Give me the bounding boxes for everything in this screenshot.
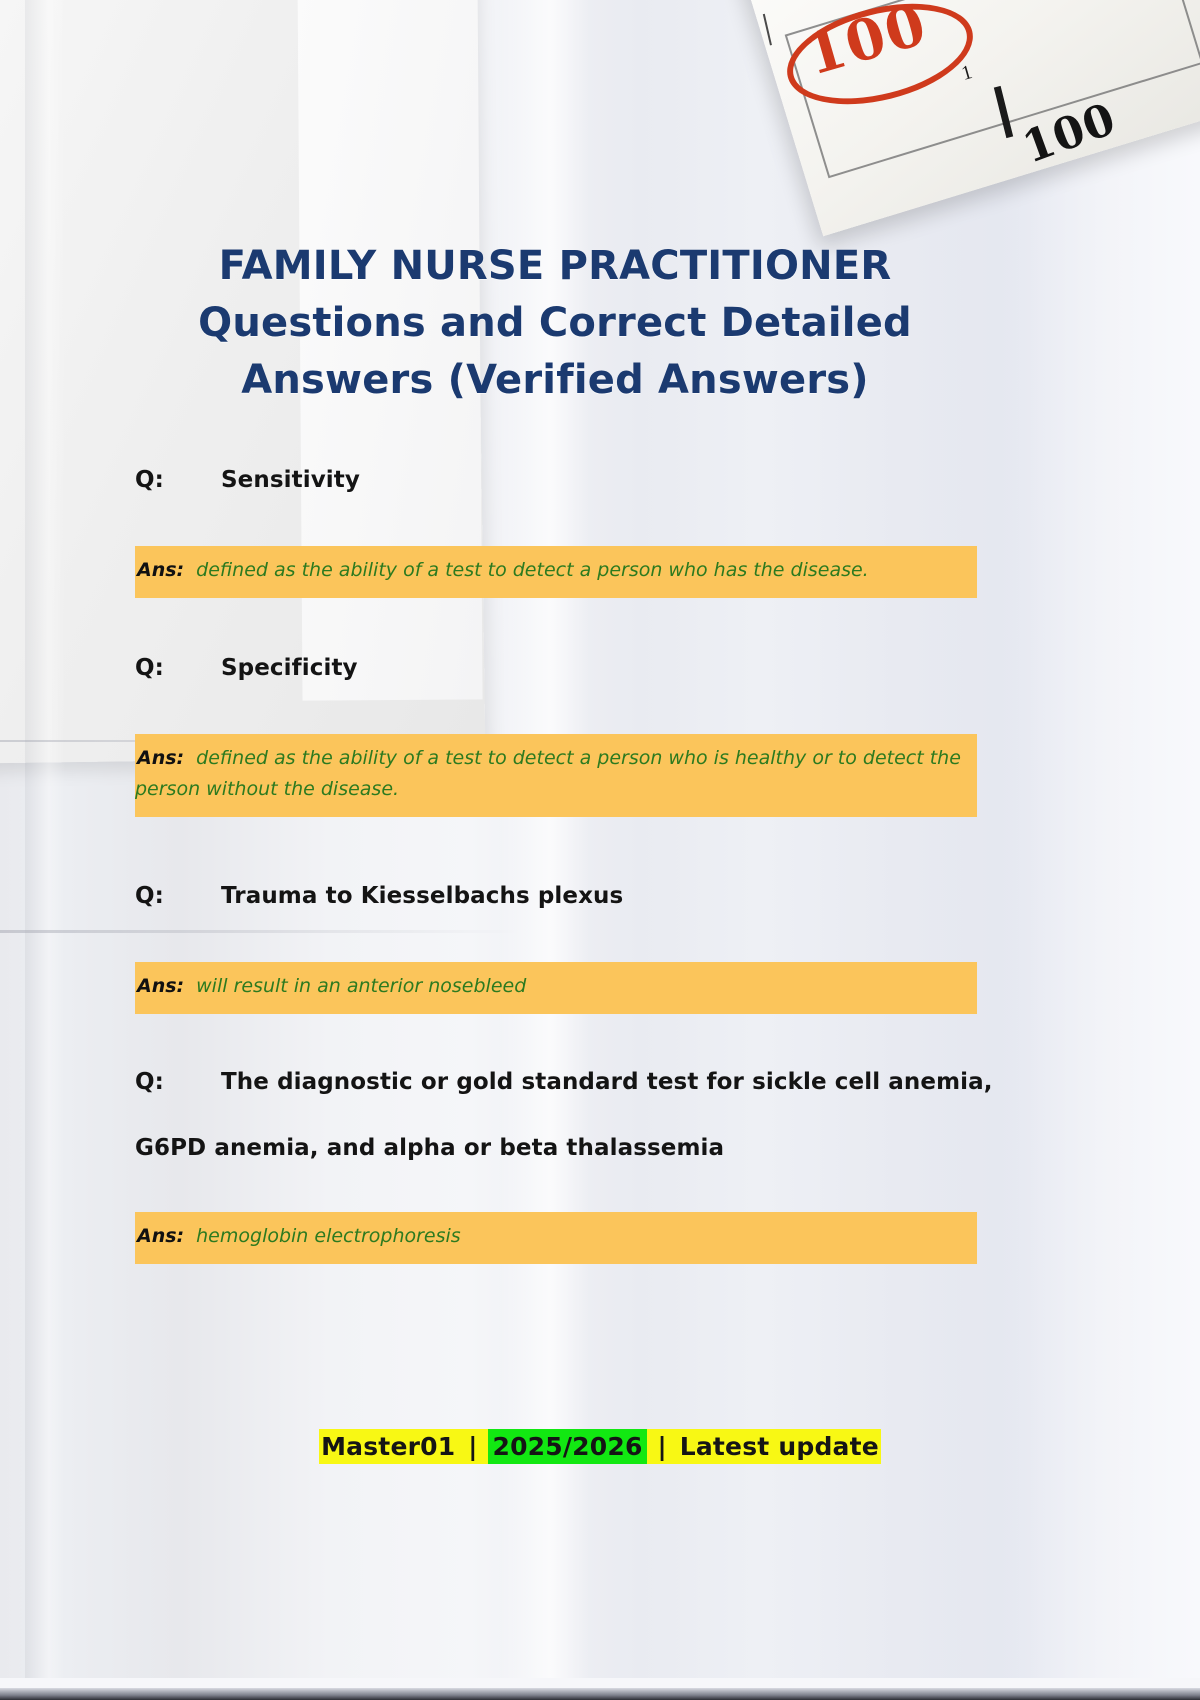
question-text-cont: G6PD anemia, and alpha or beta thalassem… bbox=[135, 1134, 1015, 1164]
answer-band: Ans:will result in an anterior nosebleed bbox=[135, 962, 977, 1014]
answer-band: Ans:hemoglobin electrophoresis bbox=[135, 1212, 977, 1264]
question-label: Q: bbox=[135, 654, 221, 684]
question-label: Q: bbox=[135, 882, 221, 912]
footer-update-label: Latest update bbox=[678, 1429, 881, 1464]
question-label: Q: bbox=[135, 1068, 221, 1098]
question-text: Specificity bbox=[221, 655, 358, 681]
answer-text: defined as the ability of a test to dete… bbox=[196, 559, 869, 581]
question-label: Q: bbox=[135, 466, 221, 496]
footer-separator-1: | bbox=[457, 1429, 488, 1464]
document-page: 100 1 100 FAMILY NURSE PRACTITIONER Ques… bbox=[0, 0, 1200, 1700]
question-text: Sensitivity bbox=[221, 467, 360, 493]
answer-label: Ans: bbox=[137, 559, 184, 581]
answer-band: Ans:defined as the ability of a test to … bbox=[135, 546, 977, 598]
question-text: Trauma to Kiesselbachs plexus bbox=[221, 883, 623, 909]
answer-label: Ans: bbox=[137, 1225, 184, 1247]
scan-bottom-edge bbox=[0, 1688, 1200, 1700]
document-content: FAMILY NURSE PRACTITIONER Questions and … bbox=[0, 0, 1200, 1700]
answer-text: defined as the ability of a test to dete… bbox=[135, 747, 961, 800]
answer-text: hemoglobin electrophoresis bbox=[196, 1225, 461, 1247]
footer-author: Master01 bbox=[319, 1429, 457, 1464]
footer-separator-2: | bbox=[647, 1429, 678, 1464]
page-title-line-2: Questions and Correct Detailed bbox=[160, 295, 950, 352]
footer-year: 2025/2026 bbox=[488, 1429, 646, 1464]
answer-text: will result in an anterior nosebleed bbox=[196, 975, 526, 997]
footer-credit: Master01 | 2025/2026 | Latest update bbox=[0, 1432, 1200, 1461]
question-row: Q:Sensitivity bbox=[135, 466, 1015, 496]
question-row: Q:Trauma to Kiesselbachs plexus bbox=[135, 882, 1015, 912]
answer-label: Ans: bbox=[137, 975, 184, 997]
page-title-line-1: FAMILY NURSE PRACTITIONER bbox=[160, 238, 950, 295]
answer-band: Ans:defined as the ability of a test to … bbox=[135, 734, 977, 817]
answer-label: Ans: bbox=[137, 747, 184, 769]
question-row: Q:The diagnostic or gold standard test f… bbox=[135, 1068, 1015, 1164]
question-text: The diagnostic or gold standard test for… bbox=[221, 1069, 993, 1095]
scan-bottom-white-edge bbox=[0, 1678, 1200, 1688]
page-title: FAMILY NURSE PRACTITIONER Questions and … bbox=[160, 238, 950, 408]
page-title-line-3: Answers (Verified Answers) bbox=[160, 352, 950, 409]
question-row: Q:Specificity bbox=[135, 654, 1015, 684]
